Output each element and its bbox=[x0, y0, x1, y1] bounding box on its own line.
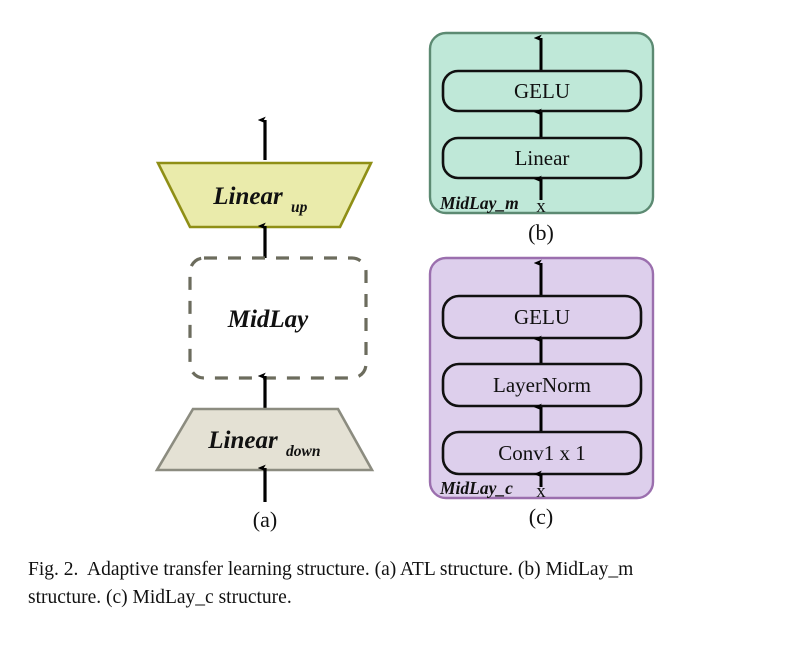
panel-c-block-conv-label: Conv1 x 1 bbox=[498, 441, 586, 465]
panel-a-index: (a) bbox=[253, 507, 277, 532]
linear-up-subscript: up bbox=[291, 199, 308, 216]
panel-c-tag: MidLay_c bbox=[439, 478, 513, 498]
panel-c-block-layernorm-label: LayerNorm bbox=[493, 373, 591, 397]
panel-b-index: (b) bbox=[528, 220, 554, 245]
linear-down-label: Linear bbox=[207, 427, 278, 454]
midlay-label: MidLay bbox=[227, 306, 309, 333]
panel-b: GELU Linear x MidLay_m (b) bbox=[430, 33, 653, 245]
panel-c: GELU LayerNorm Conv1 x 1 x MidLay_c (c) bbox=[430, 258, 653, 529]
caption-line-1: Fig. 2. Adaptive transfer learning struc… bbox=[28, 556, 774, 584]
figure-container: Linear up MidLay Linear down (a) G bbox=[0, 0, 800, 648]
panel-a: Linear up MidLay Linear down (a) bbox=[157, 120, 372, 532]
caption-line-2: structure. (c) MidLay_c structure. bbox=[28, 584, 774, 612]
panel-c-input-label: x bbox=[536, 481, 546, 502]
panel-b-tag: MidLay_m bbox=[439, 193, 519, 213]
panel-c-index: (c) bbox=[529, 504, 553, 529]
panel-b-block-gelu-label: GELU bbox=[514, 79, 570, 103]
panel-b-block-linear-label: Linear bbox=[515, 146, 570, 170]
panel-c-block-gelu-label: GELU bbox=[514, 305, 570, 329]
diagram-canvas: Linear up MidLay Linear down (a) G bbox=[0, 0, 800, 540]
figure-caption: Fig. 2. Adaptive transfer learning struc… bbox=[28, 556, 774, 613]
panel-b-input-label: x bbox=[536, 196, 546, 217]
linear-up-label: Linear bbox=[212, 183, 283, 210]
linear-down-subscript: down bbox=[286, 443, 320, 460]
